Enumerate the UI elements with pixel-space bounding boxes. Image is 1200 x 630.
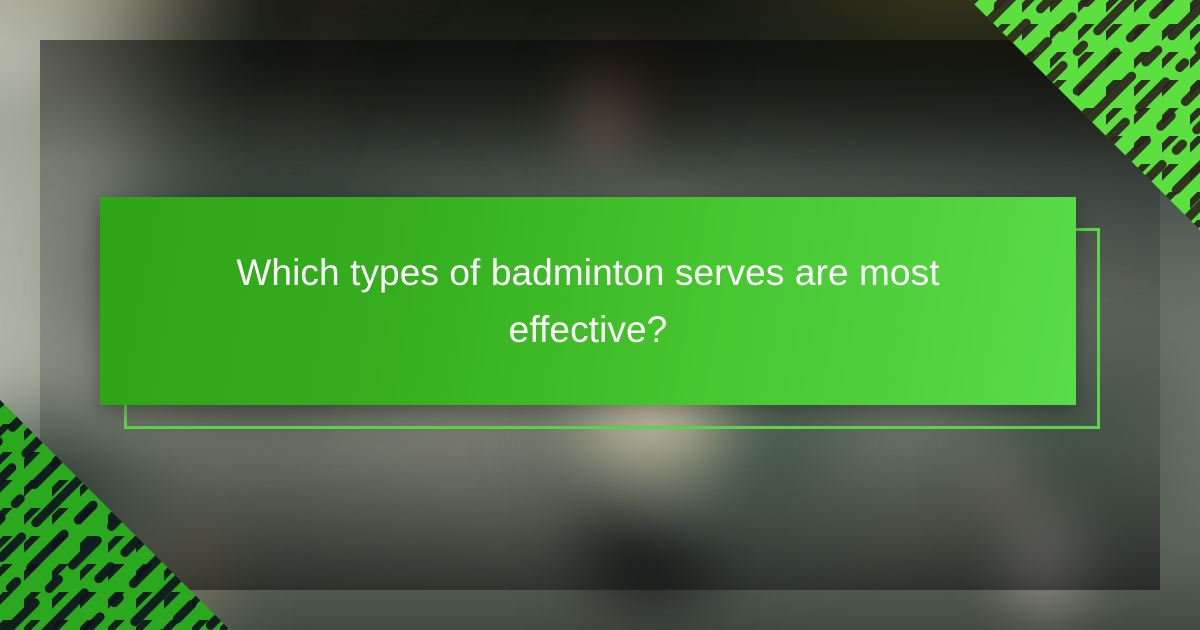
- title-banner: Which types of badminton serves are most…: [100, 197, 1076, 405]
- banner-card: Which types of badminton serves are most…: [0, 0, 1200, 630]
- page-title: Which types of badminton serves are most…: [156, 244, 1020, 359]
